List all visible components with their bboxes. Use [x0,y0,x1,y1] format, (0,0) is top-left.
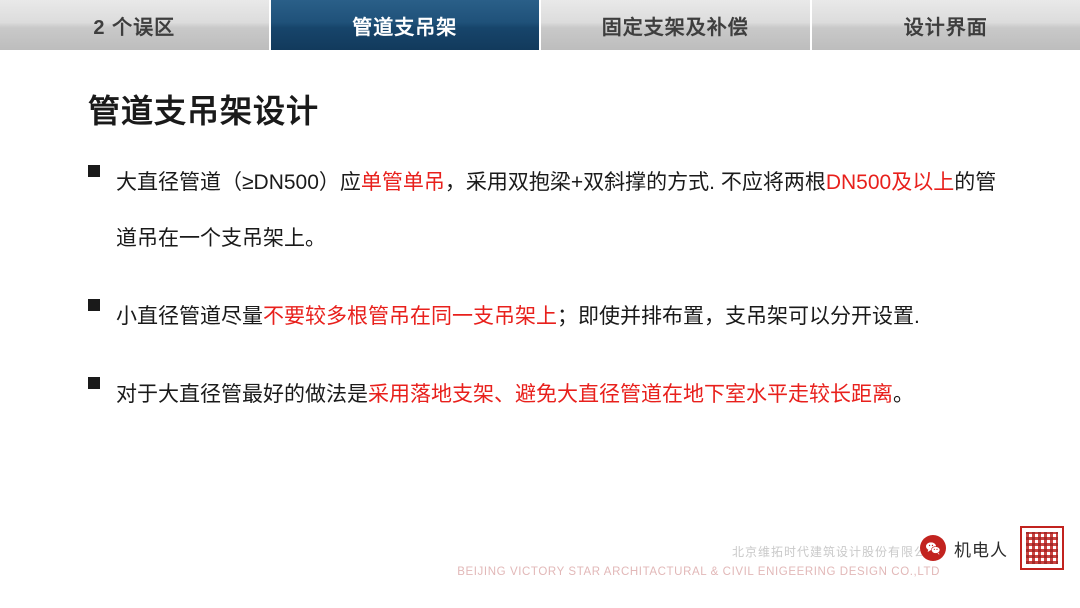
tab-2[interactable]: 固定支架及补偿 [541,0,812,50]
tab-label: 管道支吊架 [352,11,457,40]
footer-company-en: BEIJING VICTORY STAR ARCHITACTURAL & CIV… [440,566,940,578]
bullet-list: 大直径管道（≥DN500）应单管单吊，采用双抱梁+双斜撑的方式. 不应将两根DN… [88,155,998,445]
wechat-icon [920,535,946,561]
highlight-text: DN500及以上 [826,171,954,194]
highlight-text: 单管单吊 [361,171,445,194]
qr-code-icon [1020,526,1064,570]
plain-text: 对于大直径管最好的做法是 [116,383,368,406]
tab-label: 设计界面 [904,11,988,40]
tab-3[interactable]: 设计界面 [812,0,1080,50]
wechat-badge: 机电人 [920,526,1064,570]
tab-label: 2 个误区 [93,11,175,40]
list-item: 大直径管道（≥DN500）应单管单吊，采用双抱梁+双斜撑的方式. 不应将两根DN… [88,155,998,267]
footer-company-cn: 北京维拓时代建筑设计股份有限公司 [640,543,940,560]
highlight-text: 采用落地支架、避免大直径管道在地下室水平走较长距离 [368,383,893,406]
plain-text: ，采用双抱梁+双斜撑的方式. 不应将两根 [445,171,826,194]
list-item: 小直径管道尽量不要较多根管吊在同一支吊架上；即使并排布置，支吊架可以分开设置. [88,289,998,345]
bullet-text-2: 对于大直径管最好的做法是采用落地支架、避免大直径管道在地下室水平走较长距离。 [116,367,998,423]
bullet-text-1: 小直径管道尽量不要较多根管吊在同一支吊架上；即使并排布置，支吊架可以分开设置. [116,289,998,345]
slide-body: 管道支吊架设计 大直径管道（≥DN500）应单管单吊，采用双抱梁+双斜撑的方式.… [0,50,1080,608]
tab-label: 固定支架及补偿 [602,11,749,40]
page-title: 管道支吊架设计 [88,86,319,132]
bullet-marker-icon [88,165,100,177]
wechat-label: 机电人 [954,536,1008,561]
bullet-marker-icon [88,299,100,311]
bullet-marker-icon [88,377,100,389]
plain-text: ；即使并排布置，支吊架可以分开设置. [557,305,920,328]
plain-text: 小直径管道尽量 [116,305,263,328]
list-item: 对于大直径管最好的做法是采用落地支架、避免大直径管道在地下室水平走较长距离。 [88,367,998,423]
plain-text: 大直径管道（≥DN500）应 [116,171,361,194]
tab-bar: 2 个误区 管道支吊架 固定支架及补偿 设计界面 [0,0,1080,50]
highlight-text: 不要较多根管吊在同一支吊架上 [263,305,557,328]
tab-0[interactable]: 2 个误区 [0,0,271,50]
plain-text: 。 [893,383,914,406]
tab-1[interactable]: 管道支吊架 [271,0,542,50]
bullet-text-0: 大直径管道（≥DN500）应单管单吊，采用双抱梁+双斜撑的方式. 不应将两根DN… [116,155,998,267]
